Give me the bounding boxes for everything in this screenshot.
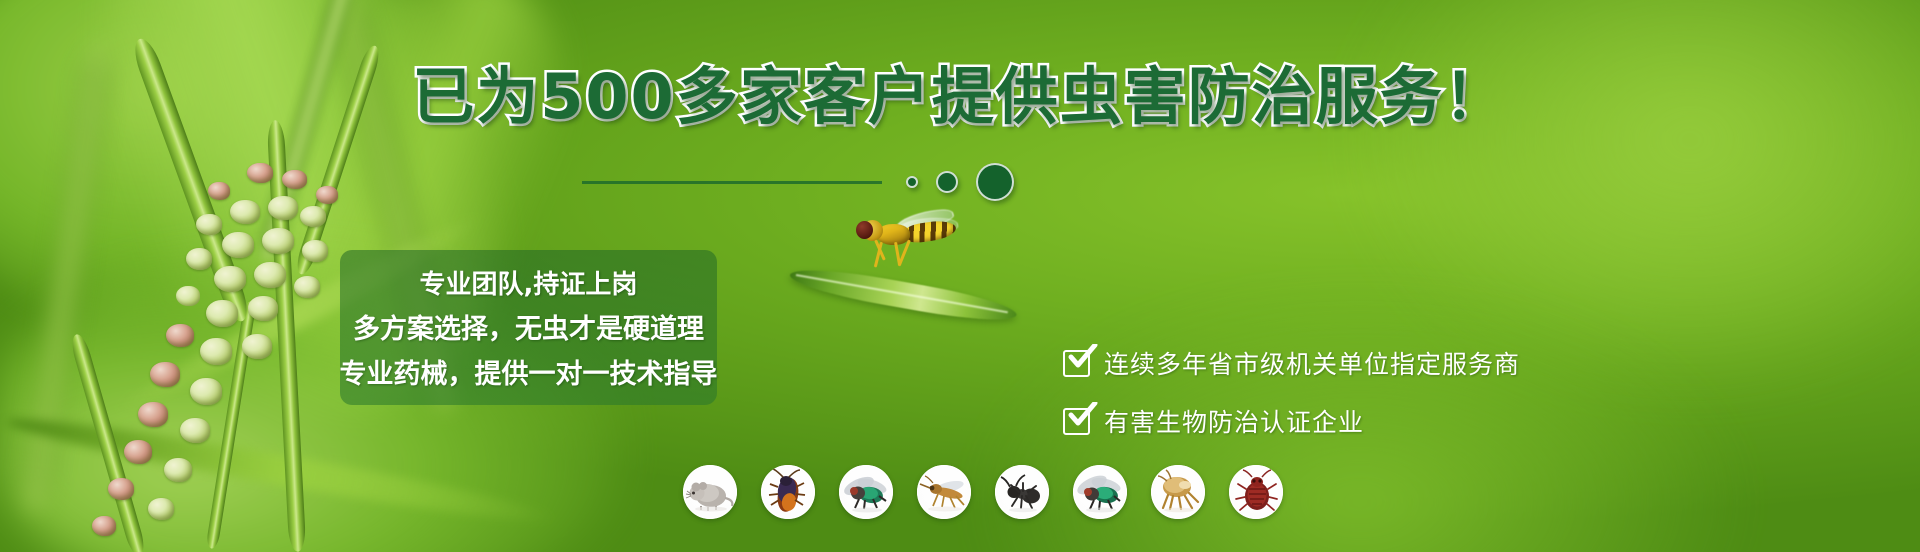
plant-bud bbox=[302, 240, 328, 262]
blowfly-icon[interactable] bbox=[1073, 465, 1127, 519]
plant-bud bbox=[190, 378, 222, 405]
plant-bud bbox=[242, 334, 272, 359]
bullet-text: 有害生物防治认证企业 bbox=[1104, 403, 1364, 439]
plant-bud bbox=[186, 248, 212, 270]
dot-small-icon bbox=[906, 176, 918, 188]
hoverfly-icon bbox=[850, 212, 960, 270]
banner-headline-text: 已为500多家客户提供虫害防治服务！ bbox=[412, 60, 1507, 133]
divider-line-left bbox=[582, 181, 882, 184]
plant-bud bbox=[214, 266, 246, 292]
fly-eye bbox=[856, 221, 873, 239]
hoverfly-on-leaf-image bbox=[790, 236, 1020, 326]
bullet-row: 连续多年省市级机关单位指定服务商 bbox=[1063, 338, 1520, 388]
features-panel-line-1: 专业团队,持证上岗 bbox=[420, 264, 638, 301]
dot-large-icon bbox=[976, 163, 1014, 201]
certification-bullets: 连续多年省市级机关单位指定服务商 有害生物防治认证企业 bbox=[1063, 338, 1520, 446]
plant-bud bbox=[262, 228, 294, 254]
plant-bud bbox=[294, 276, 320, 298]
plant-bud bbox=[200, 338, 232, 365]
plant-bud bbox=[222, 232, 254, 258]
plant-bud bbox=[230, 200, 260, 224]
banner-headline: 已为500多家客户提供虫害防治服务！ bbox=[0, 66, 1920, 128]
promo-banner: 已为500多家客户提供虫害防治服务！ 专业团队,持证上岗 多方案选择，无虫才是硬… bbox=[0, 0, 1920, 552]
plant-bud bbox=[166, 324, 194, 347]
bedbug-icon[interactable] bbox=[1229, 465, 1283, 519]
pest-type-icons bbox=[683, 465, 1283, 519]
features-panel: 专业团队,持证上岗 多方案选择，无虫才是硬道理 专业药械，提供一对一技术指导 bbox=[340, 250, 717, 405]
plant-bud bbox=[108, 478, 134, 500]
mouse-icon[interactable] bbox=[683, 465, 737, 519]
checkbox-check-icon bbox=[1063, 408, 1090, 435]
plant-bud bbox=[196, 214, 222, 235]
features-panel-line-2: 多方案选择，无虫才是硬道理 bbox=[353, 307, 704, 346]
cockroach-icon[interactable] bbox=[761, 465, 815, 519]
mosquito-icon[interactable] bbox=[917, 465, 971, 519]
plant-bud bbox=[176, 286, 200, 306]
plant-bud bbox=[92, 516, 116, 536]
fly-icon[interactable] bbox=[839, 465, 893, 519]
features-panel-line-3: 专业药械，提供一对一技术指导 bbox=[340, 352, 718, 391]
checkbox-check-icon bbox=[1063, 350, 1090, 377]
plant-bud bbox=[138, 402, 168, 427]
plant-bud bbox=[248, 296, 278, 321]
plant-bud bbox=[164, 458, 192, 482]
divider-dots bbox=[906, 163, 1014, 201]
plant-bud bbox=[150, 362, 180, 387]
decorative-divider bbox=[0, 162, 1920, 202]
plant-bud bbox=[254, 262, 286, 288]
bullet-text: 连续多年省市级机关单位指定服务商 bbox=[1104, 345, 1520, 381]
plant-bud bbox=[180, 418, 210, 443]
plant-bud bbox=[124, 440, 152, 464]
plant-bud bbox=[206, 300, 238, 327]
bullet-row: 有害生物防治认证企业 bbox=[1063, 396, 1520, 446]
plant-bud bbox=[148, 498, 174, 520]
ant-icon[interactable] bbox=[995, 465, 1049, 519]
plant-bud bbox=[300, 206, 326, 227]
flea-icon[interactable] bbox=[1151, 465, 1205, 519]
dot-medium-icon bbox=[936, 171, 958, 193]
